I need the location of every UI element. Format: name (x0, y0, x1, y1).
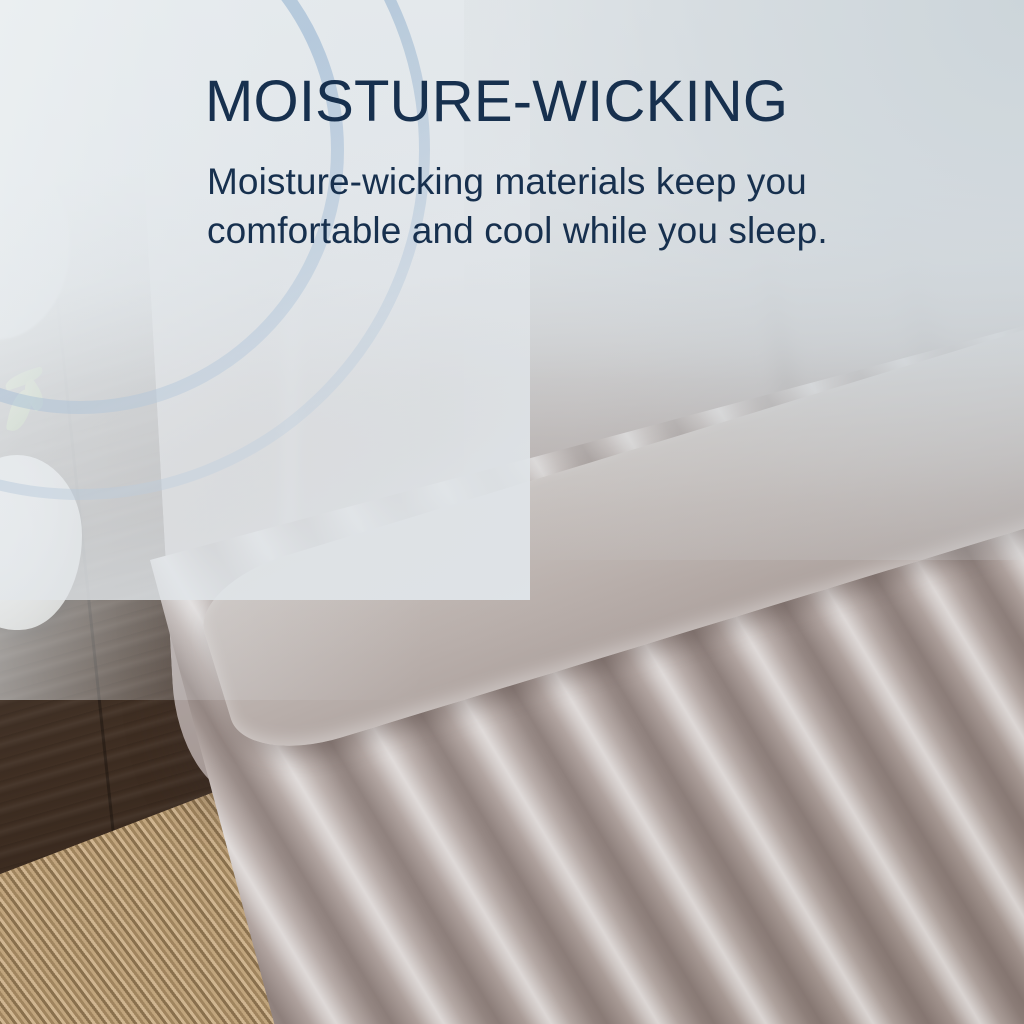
product-feature-card: MOISTURE-WICKING Moisture-wicking materi… (0, 0, 1024, 1024)
feature-headline: MOISTURE-WICKING (205, 72, 895, 132)
jute-rug (0, 704, 536, 1024)
feature-body-text: Moisture-wicking materials keep you comf… (207, 158, 867, 256)
copy-block: MOISTURE-WICKING Moisture-wicking materi… (205, 72, 895, 256)
